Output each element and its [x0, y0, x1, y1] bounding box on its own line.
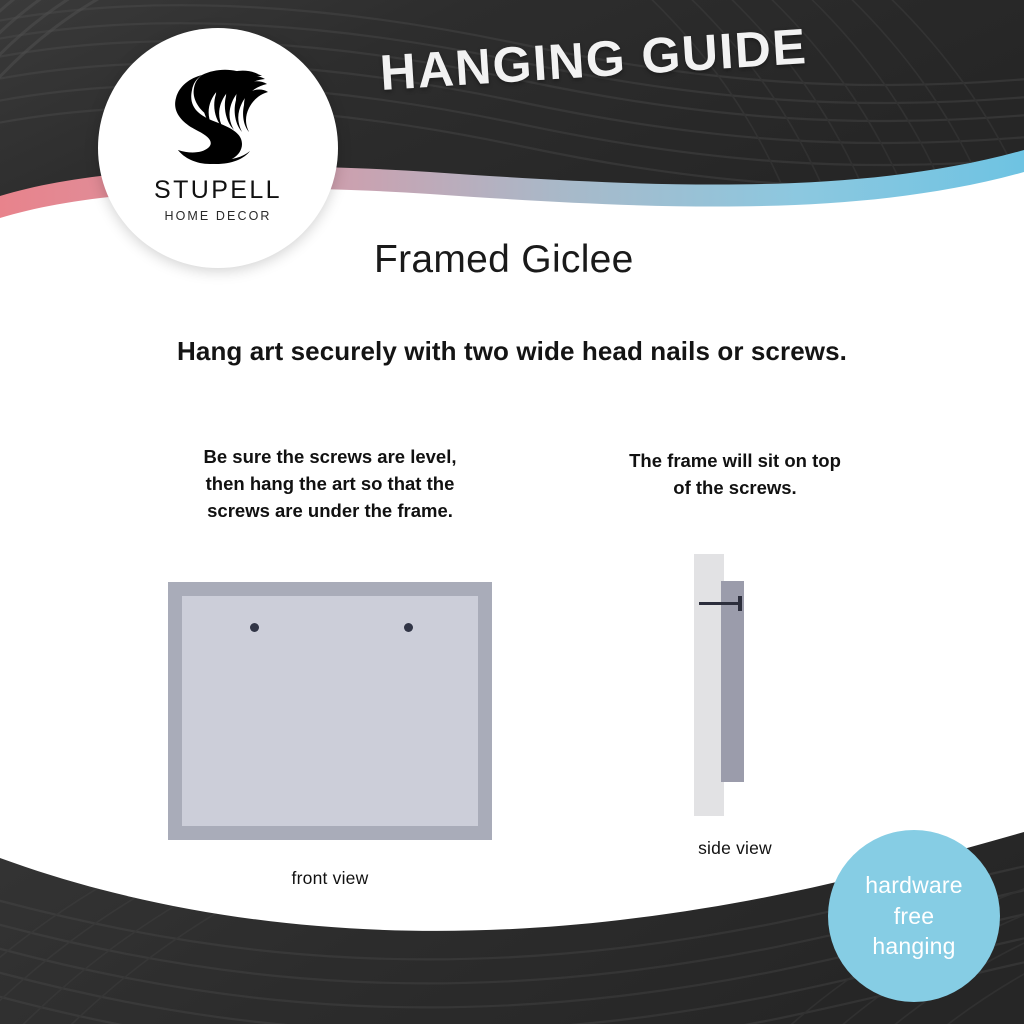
brand-name: STUPELL	[154, 176, 282, 205]
nail-shaft-icon	[699, 602, 741, 605]
front-caption-line-3: screws are under the frame.	[150, 498, 510, 525]
brand-subtitle: HOME DECOR	[164, 209, 271, 223]
screw-dot-right-icon	[404, 623, 413, 632]
wall-strip	[694, 554, 724, 816]
main-instruction-text: Hang art securely with two wide head nai…	[0, 336, 1024, 367]
hardware-free-hanging-badge: hardware free hanging	[828, 830, 1000, 1002]
front-caption-line-2: then hang the art so that the	[150, 471, 510, 498]
side-view-frame-illustration	[680, 554, 790, 816]
side-caption-line-2: of the screws.	[580, 475, 890, 502]
front-view-caption: Be sure the screws are level, then hang …	[150, 444, 510, 524]
nail-head-icon	[738, 596, 742, 611]
screw-dot-left-icon	[250, 623, 259, 632]
front-caption-line-1: Be sure the screws are level,	[150, 444, 510, 471]
badge-line-3: hanging	[872, 931, 955, 962]
stupell-swan-s-logo-icon	[158, 54, 278, 174]
brand-logo-badge: STUPELL HOME DECOR	[98, 28, 338, 268]
product-type-heading: Framed Giclee	[374, 238, 634, 282]
front-view-diagram: Be sure the screws are level, then hang …	[150, 444, 510, 889]
badge-line-2: free	[894, 901, 934, 932]
badge-line-1: hardware	[865, 870, 963, 901]
hanging-guide-page: STUPELL HOME DECOR HANGING GUIDE Framed …	[0, 0, 1024, 1024]
front-view-art-panel	[182, 596, 478, 826]
side-caption-line-1: The frame will sit on top	[580, 448, 890, 475]
side-view-caption: The frame will sit on top of the screws.	[580, 448, 890, 502]
frame-strip	[721, 581, 744, 782]
side-view-diagram: The frame will sit on top of the screws.…	[580, 448, 890, 859]
front-view-frame-illustration	[168, 582, 492, 840]
